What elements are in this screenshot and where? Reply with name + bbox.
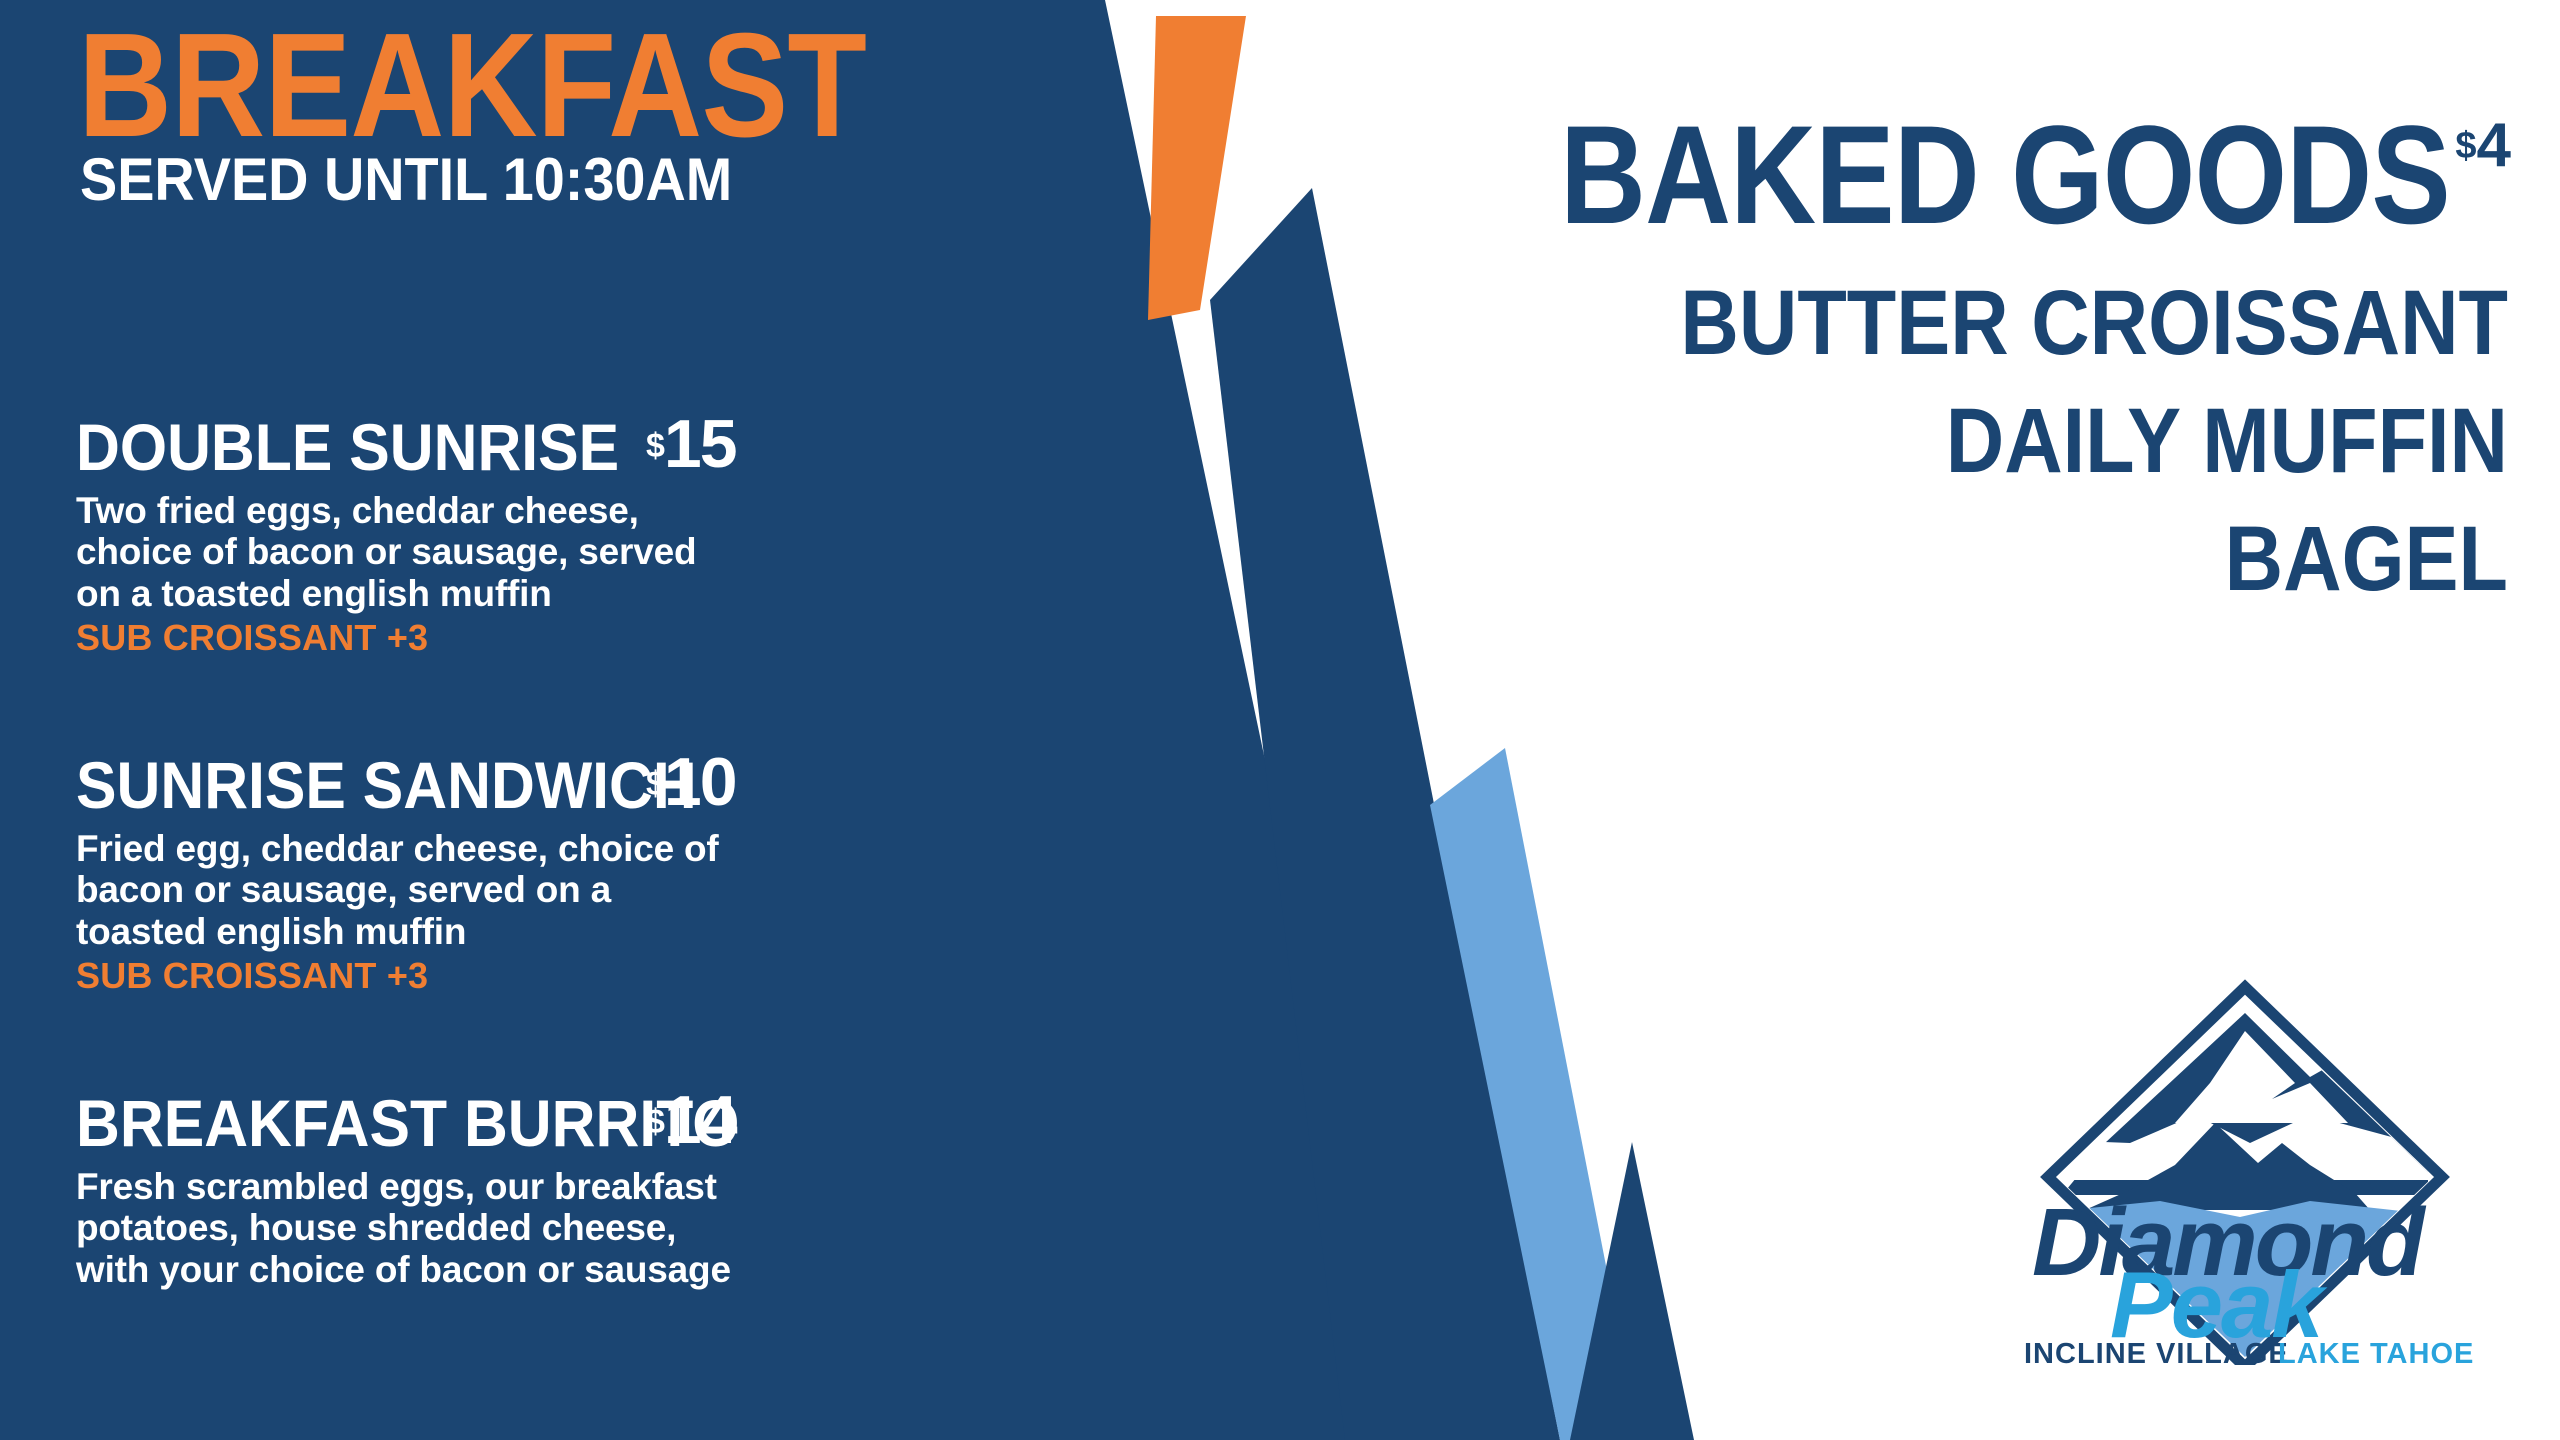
baked-goods-title-text: BAKED GOODS bbox=[1560, 105, 2450, 245]
item-price: $14 bbox=[646, 1086, 736, 1154]
baked-goods-item-butter-croissant[interactable]: BUTTER CROISSANT bbox=[1610, 265, 2508, 383]
item-name: DOUBLE SUNRISE bbox=[76, 414, 619, 480]
item-description: Fresh scrambled eggs, our breakfast pota… bbox=[76, 1166, 676, 1290]
price-amount: 15 bbox=[664, 406, 736, 482]
diamond-peak-logo: Diamond Peak INCLINE VILLAGE LAKE TAHOE bbox=[2010, 965, 2480, 1365]
baked-goods-item-daily-muffin[interactable]: DAILY MUFFIN bbox=[1610, 383, 2508, 501]
desc-line: on a toasted english muffin bbox=[76, 573, 676, 614]
logo-tagline-lake-tahoe: LAKE TAHOE bbox=[2278, 1338, 2474, 1365]
desc-line: Fresh scrambled eggs, our breakfast bbox=[76, 1166, 676, 1207]
item-sub-option: SUB CROISSANT +3 bbox=[76, 956, 1076, 996]
item-description: Fried egg, cheddar cheese, choice of bac… bbox=[76, 828, 676, 952]
desc-line: choice of bacon or sausage, served bbox=[76, 531, 676, 572]
price-amount: 14 bbox=[664, 1082, 736, 1158]
item-head: SUNRISE SANDWICH $10 bbox=[76, 752, 1076, 818]
baked-goods-price: $4 bbox=[2455, 115, 2510, 177]
desc-line: with your choice of bacon or sausage bbox=[76, 1249, 676, 1290]
menu-item-double-sunrise[interactable]: DOUBLE SUNRISE $15 Two fried eggs, chedd… bbox=[76, 414, 1076, 658]
item-price: $15 bbox=[646, 410, 736, 478]
desc-line: Fried egg, cheddar cheese, choice of bbox=[76, 828, 676, 869]
menu-board: BREAKFAST SERVED UNTIL 10:30AM DOUBLE SU… bbox=[0, 0, 2560, 1440]
item-price: $10 bbox=[646, 748, 736, 816]
baked-goods-list: BUTTER CROISSANT DAILY MUFFIN BAGEL bbox=[1488, 265, 2508, 618]
item-name: SUNRISE SANDWICH bbox=[76, 752, 697, 818]
breakfast-title: BREAKFAST bbox=[78, 12, 866, 160]
baked-goods-title: BAKED GOODS$4 bbox=[1403, 105, 2511, 245]
item-sub-option: SUB CROISSANT +3 bbox=[76, 618, 1076, 658]
baked-goods-item-bagel[interactable]: BAGEL bbox=[1610, 501, 2508, 619]
breakfast-panel: BREAKFAST SERVED UNTIL 10:30AM DOUBLE SU… bbox=[0, 0, 1120, 1440]
currency-symbol: $ bbox=[2455, 125, 2476, 167]
diamond-peak-logo-icon: Diamond Peak INCLINE VILLAGE LAKE TAHOE bbox=[2010, 965, 2480, 1365]
item-head: DOUBLE SUNRISE $15 bbox=[76, 414, 1076, 480]
menu-item-breakfast-burrito[interactable]: BREAKFAST BURRITO $14 Fresh scrambled eg… bbox=[76, 1090, 1076, 1290]
desc-line: bacon or sausage, served on a bbox=[76, 869, 676, 910]
item-description: Two fried eggs, cheddar cheese, choice o… bbox=[76, 490, 676, 614]
currency-symbol: $ bbox=[646, 765, 664, 803]
price-amount: 10 bbox=[664, 744, 736, 820]
menu-item-sunrise-sandwich[interactable]: SUNRISE SANDWICH $10 Fried egg, cheddar … bbox=[76, 752, 1076, 996]
currency-symbol: $ bbox=[646, 1103, 664, 1141]
currency-symbol: $ bbox=[646, 427, 664, 465]
desc-line: toasted english muffin bbox=[76, 911, 676, 952]
served-until-subtitle: SERVED UNTIL 10:30AM bbox=[80, 150, 732, 210]
price-amount: 4 bbox=[2477, 111, 2510, 180]
desc-line: Two fried eggs, cheddar cheese, bbox=[76, 490, 676, 531]
logo-tagline-incline-village: INCLINE VILLAGE bbox=[2024, 1338, 2289, 1365]
item-head: BREAKFAST BURRITO $14 bbox=[76, 1090, 1076, 1156]
desc-line: potatoes, house shredded cheese, bbox=[76, 1207, 676, 1248]
item-name: BREAKFAST BURRITO bbox=[76, 1090, 739, 1156]
